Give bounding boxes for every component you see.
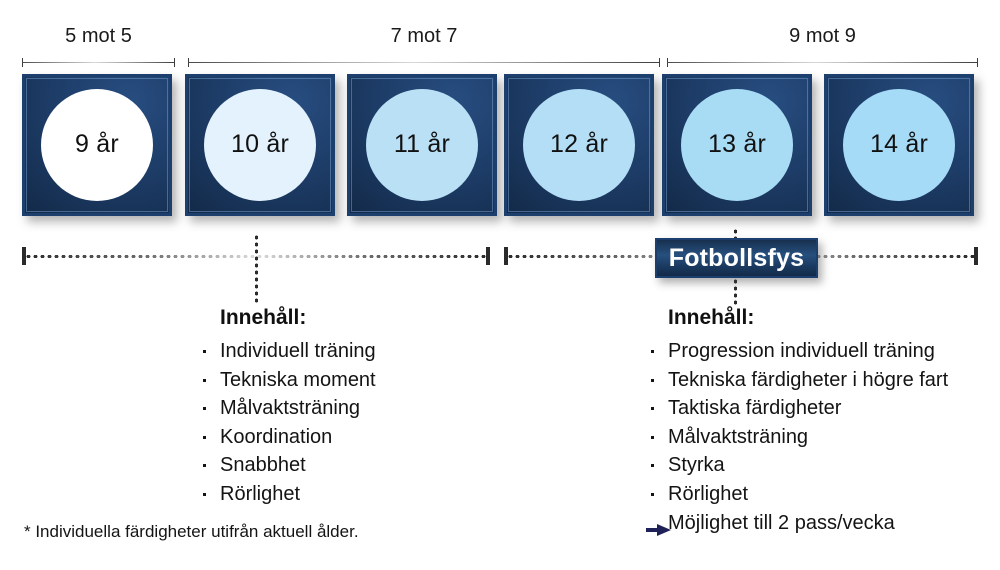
dot-bullet-icon (203, 407, 206, 410)
age-circle: 14 år (843, 89, 955, 201)
dot-bullet-icon (651, 436, 654, 439)
age-circle: 11 år (366, 89, 478, 201)
bracket-label: 7 mot 7 (188, 24, 660, 48)
left-content-block: Innehåll: Individuell träningTekniska mo… (200, 306, 376, 509)
arrow-bullet-icon (646, 517, 672, 531)
dot-bullet-icon (651, 464, 654, 467)
left-content-item-label: Målvaktsträning (220, 397, 360, 419)
age-circle: 10 år (204, 89, 316, 201)
bracket-line (188, 62, 660, 63)
right-content-item: Möjlighet till 2 pass/vecka (648, 509, 948, 538)
left-content-item: Rörlighet (200, 480, 376, 509)
timeline-cap-right (974, 247, 978, 265)
right-content-item: Målvaktsträning (648, 423, 948, 452)
bracket-cap-right (174, 58, 175, 67)
bracket-line (667, 62, 978, 63)
dot-bullet-icon (203, 350, 206, 353)
right-content-item-label: Tekniska färdigheter i högre fart (668, 369, 948, 391)
left-content-item-label: Rörlighet (220, 483, 300, 505)
bracket-line (22, 62, 175, 63)
right-content-item: Progression individuell träning (648, 337, 948, 366)
left-content-item-label: Individuell träning (220, 340, 376, 362)
left-content-item-label: Koordination (220, 426, 332, 448)
age-card-12-år[interactable]: 12 år (504, 74, 654, 216)
left-content-item: Snabbhet (200, 451, 376, 480)
age-label: 11 år (394, 132, 450, 157)
connector-line-1 (255, 234, 258, 304)
right-content-item: Styrka (648, 451, 948, 480)
right-content-item-label: Möjlighet till 2 pass/vecka (668, 512, 895, 534)
age-card-10-år[interactable]: 10 år (185, 74, 335, 216)
right-content-item-label: Rörlighet (668, 483, 748, 505)
left-content-item: Koordination (200, 423, 376, 452)
bracket-rule (188, 58, 660, 67)
right-content-title: Innehåll: (648, 306, 948, 330)
left-content-item: Individuell träning (200, 337, 376, 366)
dot-bullet-icon (203, 436, 206, 439)
left-content-item: Målvaktsträning (200, 394, 376, 423)
right-content-item-label: Målvaktsträning (668, 426, 808, 448)
age-circle: 12 år (523, 89, 635, 201)
bracket-cap-right (977, 58, 978, 67)
left-content-list: Individuell träningTekniska momentMålvak… (200, 337, 376, 509)
fotbollsfys-badge[interactable]: Fotbollsfys (655, 238, 818, 278)
bracket-label: 9 mot 9 (667, 24, 978, 48)
age-card-11-år[interactable]: 11 år (347, 74, 497, 216)
right-content-item-label: Taktiska färdigheter (668, 397, 841, 419)
right-content-item: Taktiska färdigheter (648, 394, 948, 423)
dot-bullet-icon (203, 464, 206, 467)
left-content-item: Tekniska moment (200, 366, 376, 395)
left-content-item-label: Snabbhet (220, 454, 306, 476)
age-card-14-år[interactable]: 14 år (824, 74, 974, 216)
age-circle: 9 år (41, 89, 153, 201)
right-content-block: Innehåll: Progression individuell tränin… (648, 306, 948, 537)
bracket-rule (667, 58, 978, 67)
bracket-label: 5 mot 5 (22, 24, 175, 48)
age-label: 13 år (708, 132, 766, 157)
age-card-9-år[interactable]: 9 år (22, 74, 172, 216)
fotbollsfys-badge-label: Fotbollsfys (669, 244, 805, 273)
age-label: 10 år (231, 132, 289, 157)
dot-bullet-icon (203, 379, 206, 382)
age-label: 9 år (75, 132, 119, 157)
right-content-list: Progression individuell träningTekniska … (648, 337, 948, 537)
connector-line-3 (734, 278, 737, 306)
dot-bullet-icon (651, 350, 654, 353)
left-content-title: Innehåll: (200, 306, 376, 330)
bracket-cap-right (659, 58, 660, 67)
right-content-item-label: Styrka (668, 454, 725, 476)
footnote: * Individuella färdigheter utifrån aktue… (24, 521, 359, 543)
dot-bullet-icon (203, 493, 206, 496)
dot-bullet-icon (651, 407, 654, 410)
age-label: 14 år (870, 132, 928, 157)
dot-bullet-icon (651, 379, 654, 382)
infographic-canvas: 5 mot 57 mot 79 mot 9 9 år10 år11 år12 å… (0, 0, 1000, 570)
age-label: 12 år (550, 132, 608, 157)
right-content-item-label: Progression individuell träning (668, 340, 935, 362)
dot-bullet-icon (651, 493, 654, 496)
timeline-cap-right (486, 247, 490, 265)
age-circle: 13 år (681, 89, 793, 201)
right-content-item: Rörlighet (648, 480, 948, 509)
age-card-13-år[interactable]: 13 år (662, 74, 812, 216)
bracket-rule (22, 58, 175, 67)
right-content-item: Tekniska färdigheter i högre fart (648, 366, 948, 395)
left-content-item-label: Tekniska moment (220, 369, 376, 391)
